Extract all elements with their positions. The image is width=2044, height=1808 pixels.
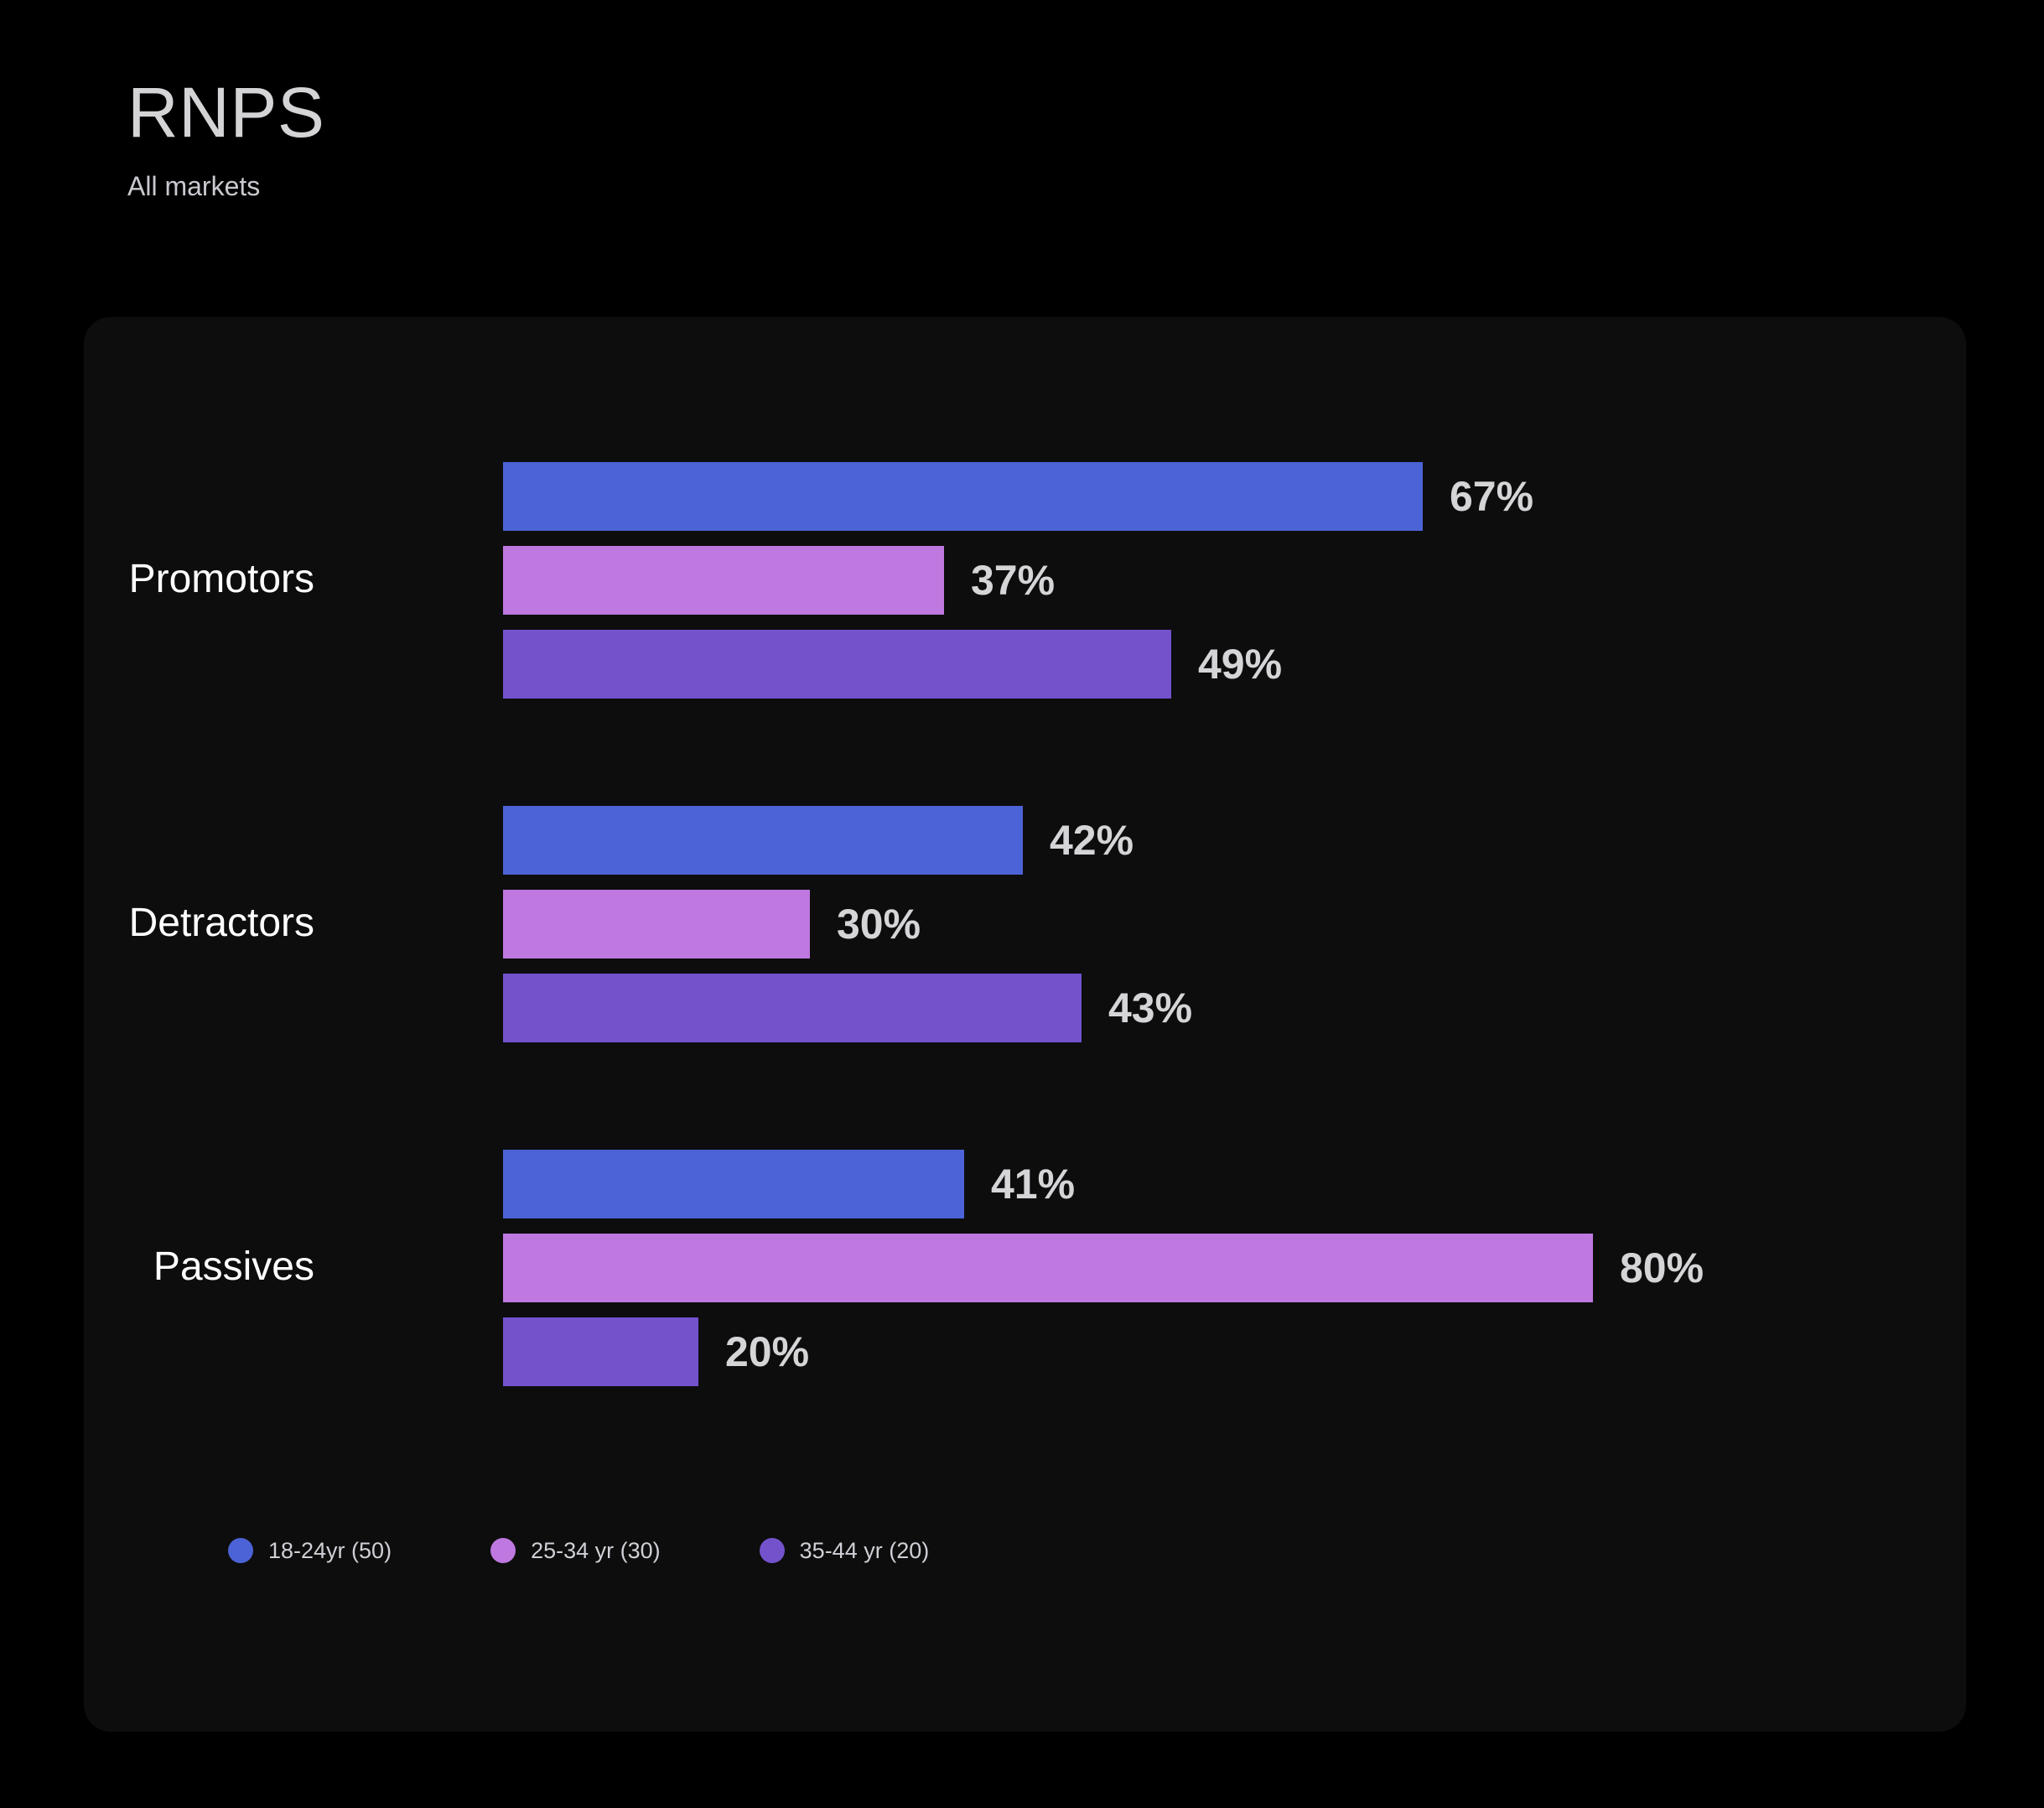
bar-segment[interactable]: [503, 1317, 698, 1386]
bar-segment[interactable]: [503, 630, 1171, 699]
legend-item[interactable]: 25-34 yr (30): [490, 1537, 661, 1564]
bar-group-detractors: Detractors 42% 30% 43%: [84, 802, 1966, 1045]
category-label-promotors: Promotors: [0, 556, 314, 603]
legend-item-label: 18-24yr (50): [268, 1537, 392, 1564]
category-label-passives: Passives: [0, 1244, 314, 1291]
bar-row: 20%: [503, 1317, 809, 1386]
chart-page: RNPS All markets Promotors 67% 37%: [0, 0, 2044, 1808]
bar-value-label: 41%: [991, 1161, 1075, 1208]
page-subtitle: All markets: [127, 169, 1134, 203]
bar-row: 37%: [503, 546, 1055, 615]
bar-segment[interactable]: [503, 890, 810, 959]
bar-group-promotors: Promotors 67% 37% 49%: [84, 458, 1966, 701]
legend-item-label: 25-34 yr (30): [531, 1537, 661, 1564]
chart-header: RNPS All markets: [127, 72, 1134, 203]
bar-value-label: 20%: [725, 1328, 809, 1375]
category-label-detractors: Detractors: [0, 900, 314, 947]
bar-value-label: 37%: [971, 557, 1055, 604]
bar-row: 43%: [503, 974, 1192, 1042]
bar-segment[interactable]: [503, 546, 944, 615]
bar-segment[interactable]: [503, 1150, 964, 1218]
bar-row: 49%: [503, 630, 1282, 699]
chart-legend: 18-24yr (50) 25-34 yr (30) 35-44 yr (20): [228, 1537, 929, 1564]
legend-item-label: 35-44 yr (20): [800, 1537, 930, 1564]
bar-value-label: 80%: [1620, 1244, 1704, 1291]
bar-value-label: 49%: [1198, 641, 1282, 688]
bar-value-label: 43%: [1108, 985, 1192, 1031]
bar-value-label: 30%: [837, 901, 921, 948]
legend-swatch-icon: [760, 1538, 785, 1563]
bar-row: 80%: [503, 1234, 1704, 1302]
bar-row: 67%: [503, 462, 1533, 531]
chart-card: Promotors 67% 37% 49%: [84, 317, 1966, 1732]
bar-chart-plot: Promotors 67% 37% 49%: [84, 317, 1966, 1732]
bar-row: 41%: [503, 1150, 1075, 1218]
bar-segment[interactable]: [503, 806, 1023, 875]
bar-group-bars: 41% 80% 20%: [503, 1146, 1966, 1389]
page-title: RNPS: [127, 72, 1134, 153]
bar-segment[interactable]: [503, 974, 1082, 1042]
bar-group-bars: 42% 30% 43%: [503, 802, 1966, 1045]
legend-swatch-icon: [228, 1538, 253, 1563]
legend-item[interactable]: 18-24yr (50): [228, 1537, 392, 1564]
bar-group-passives: Passives 41% 80% 20%: [84, 1146, 1966, 1389]
bar-segment[interactable]: [503, 1234, 1593, 1302]
bar-value-label: 67%: [1450, 473, 1533, 520]
bar-group-bars: 67% 37% 49%: [503, 458, 1966, 701]
bar-value-label: 42%: [1050, 817, 1134, 864]
legend-item[interactable]: 35-44 yr (20): [760, 1537, 930, 1564]
legend-swatch-icon: [490, 1538, 516, 1563]
bar-row: 42%: [503, 806, 1134, 875]
bar-segment[interactable]: [503, 462, 1423, 531]
bar-row: 30%: [503, 890, 921, 959]
